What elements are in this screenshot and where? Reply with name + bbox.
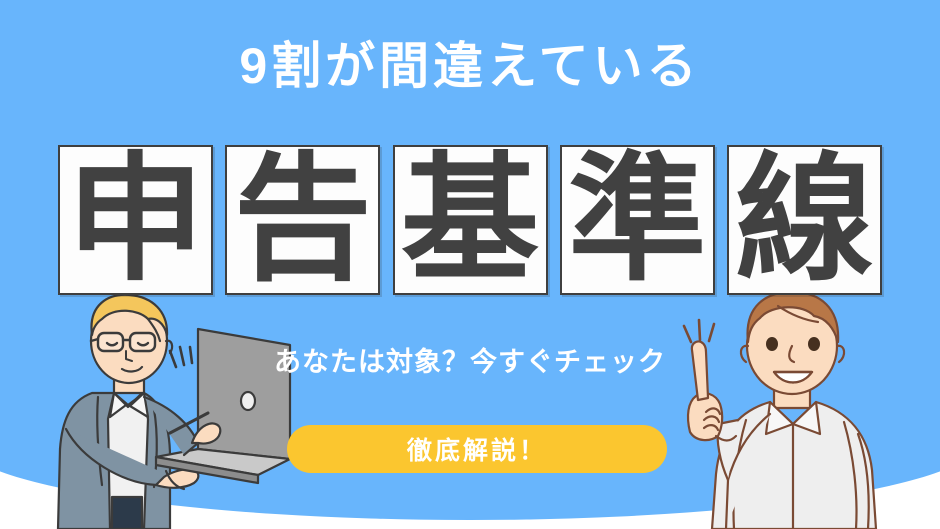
- title-character: 線: [735, 151, 873, 289]
- title-character-boxes: 申 告 基 準 線: [58, 145, 882, 295]
- headline: 9割が間違えている: [0, 38, 940, 96]
- title-box-3: 基: [393, 145, 548, 295]
- title-character: 申: [66, 151, 204, 289]
- man-with-laptop-svg: [52, 289, 312, 529]
- man-pointing-up-svg: [662, 284, 912, 529]
- cta-button[interactable]: 徹底解説！: [287, 425, 667, 473]
- title-character: 準: [568, 151, 706, 289]
- emphasis-strokes-icon: [684, 320, 714, 342]
- title-box-5: 線: [727, 145, 882, 295]
- subtitle: あなたは対象？今すぐチェック: [0, 340, 940, 379]
- title-character: 基: [401, 151, 539, 289]
- illustration-man-with-laptop: [52, 289, 312, 529]
- thumbnail-canvas: 9割が間違えている 申 告 基 準 線 あなたは対象？今すぐチェック 徹底解説！: [0, 0, 940, 529]
- title-box-2: 告: [225, 145, 380, 295]
- title-box-4: 準: [560, 145, 715, 295]
- cta-button-label: 徹底解説！: [407, 431, 547, 467]
- illustration-man-pointing-up: [662, 284, 912, 529]
- title-box-1: 申: [58, 145, 213, 295]
- title-character: 告: [234, 151, 372, 289]
